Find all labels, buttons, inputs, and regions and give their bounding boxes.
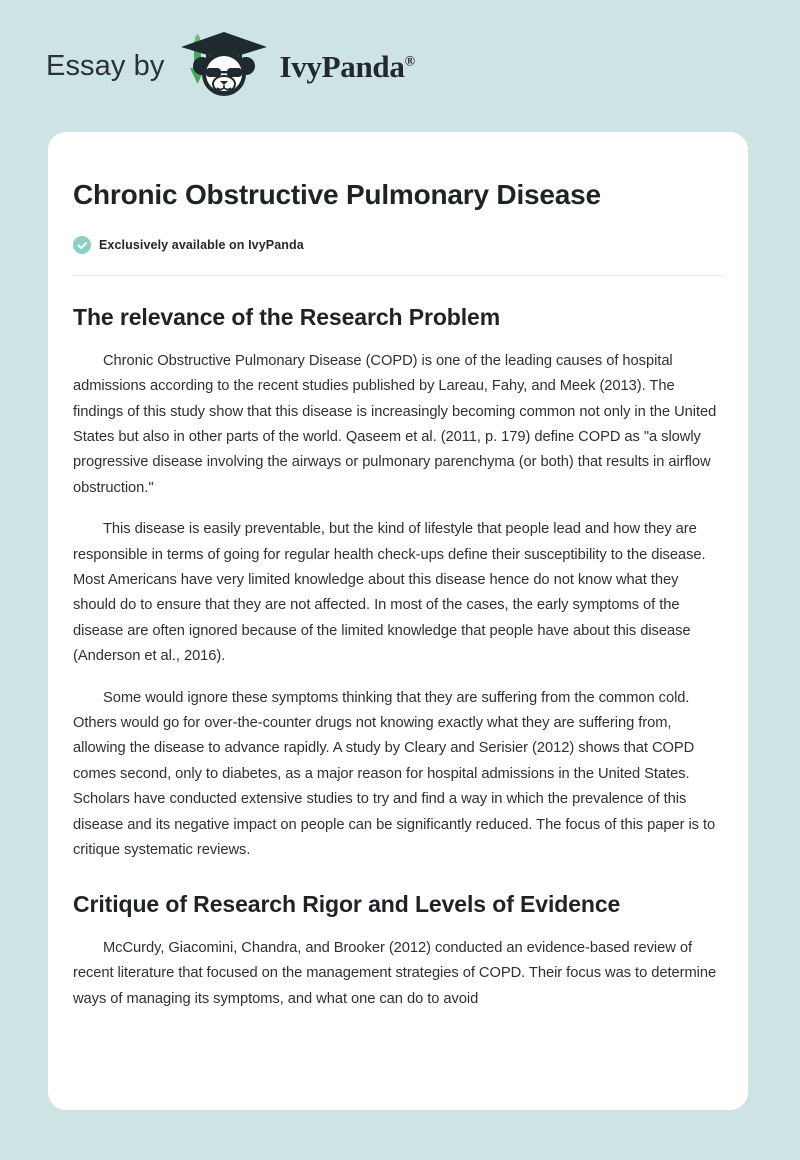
paragraph: Some would ignore these symptoms thinkin… — [73, 686, 723, 864]
brand-name-text: IvyPanda — [279, 49, 404, 84]
paragraph: McCurdy, Giacomini, Chandra, and Brooker… — [73, 936, 723, 1012]
status-badge-label: Exclusively available on IvyPanda — [99, 238, 304, 252]
paragraph: This disease is easily preventable, but … — [73, 517, 723, 669]
paragraph: Chronic Obstructive Pulmonary Disease (C… — [73, 349, 723, 501]
document-body: Chronic Obstructive Pulmonary Disease Ex… — [73, 178, 723, 1012]
panda-graduate-logo-icon — [178, 30, 270, 103]
brand-wordmark: IvyPanda® — [279, 51, 414, 82]
essay-by-label: Essay by — [46, 52, 164, 81]
brand-lockup[interactable]: Essay by — [46, 30, 415, 103]
essay-document-card: Chronic Obstructive Pulmonary Disease Ex… — [48, 132, 748, 1110]
section-heading-relevance: The relevance of the Research Problem — [73, 302, 723, 333]
ivypanda-logo[interactable]: IvyPanda® — [178, 30, 414, 103]
page-title: Chronic Obstructive Pulmonary Disease — [73, 178, 723, 212]
header-divider — [73, 275, 723, 276]
check-circle-icon — [73, 236, 91, 254]
exclusive-availability-badge: Exclusively available on IvyPanda — [73, 236, 723, 254]
section-heading-critique: Critique of Research Rigor and Levels of… — [73, 889, 723, 920]
registered-trademark-symbol: ® — [405, 54, 415, 69]
brand-header: Essay by — [0, 0, 800, 132]
